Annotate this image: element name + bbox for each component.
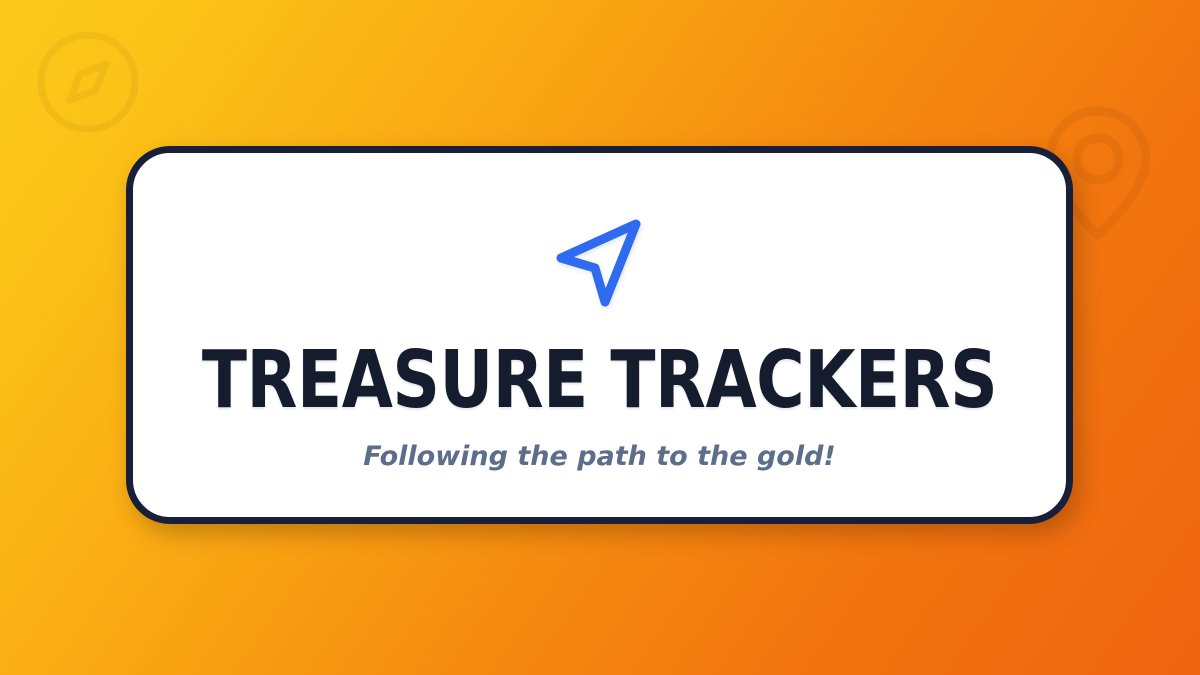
page-title: TREASURE TRACKERS <box>202 347 997 413</box>
title-card-stage: TREASURE TRACKERS Following the path to … <box>0 0 1200 675</box>
compass-icon <box>28 22 148 142</box>
brand-card: TREASURE TRACKERS Following the path to … <box>126 146 1073 524</box>
tagline: Following the path to the gold! <box>363 443 836 470</box>
navigation-arrow-icon <box>548 209 652 313</box>
brand-card-content: TREASURE TRACKERS Following the path to … <box>133 153 1066 470</box>
